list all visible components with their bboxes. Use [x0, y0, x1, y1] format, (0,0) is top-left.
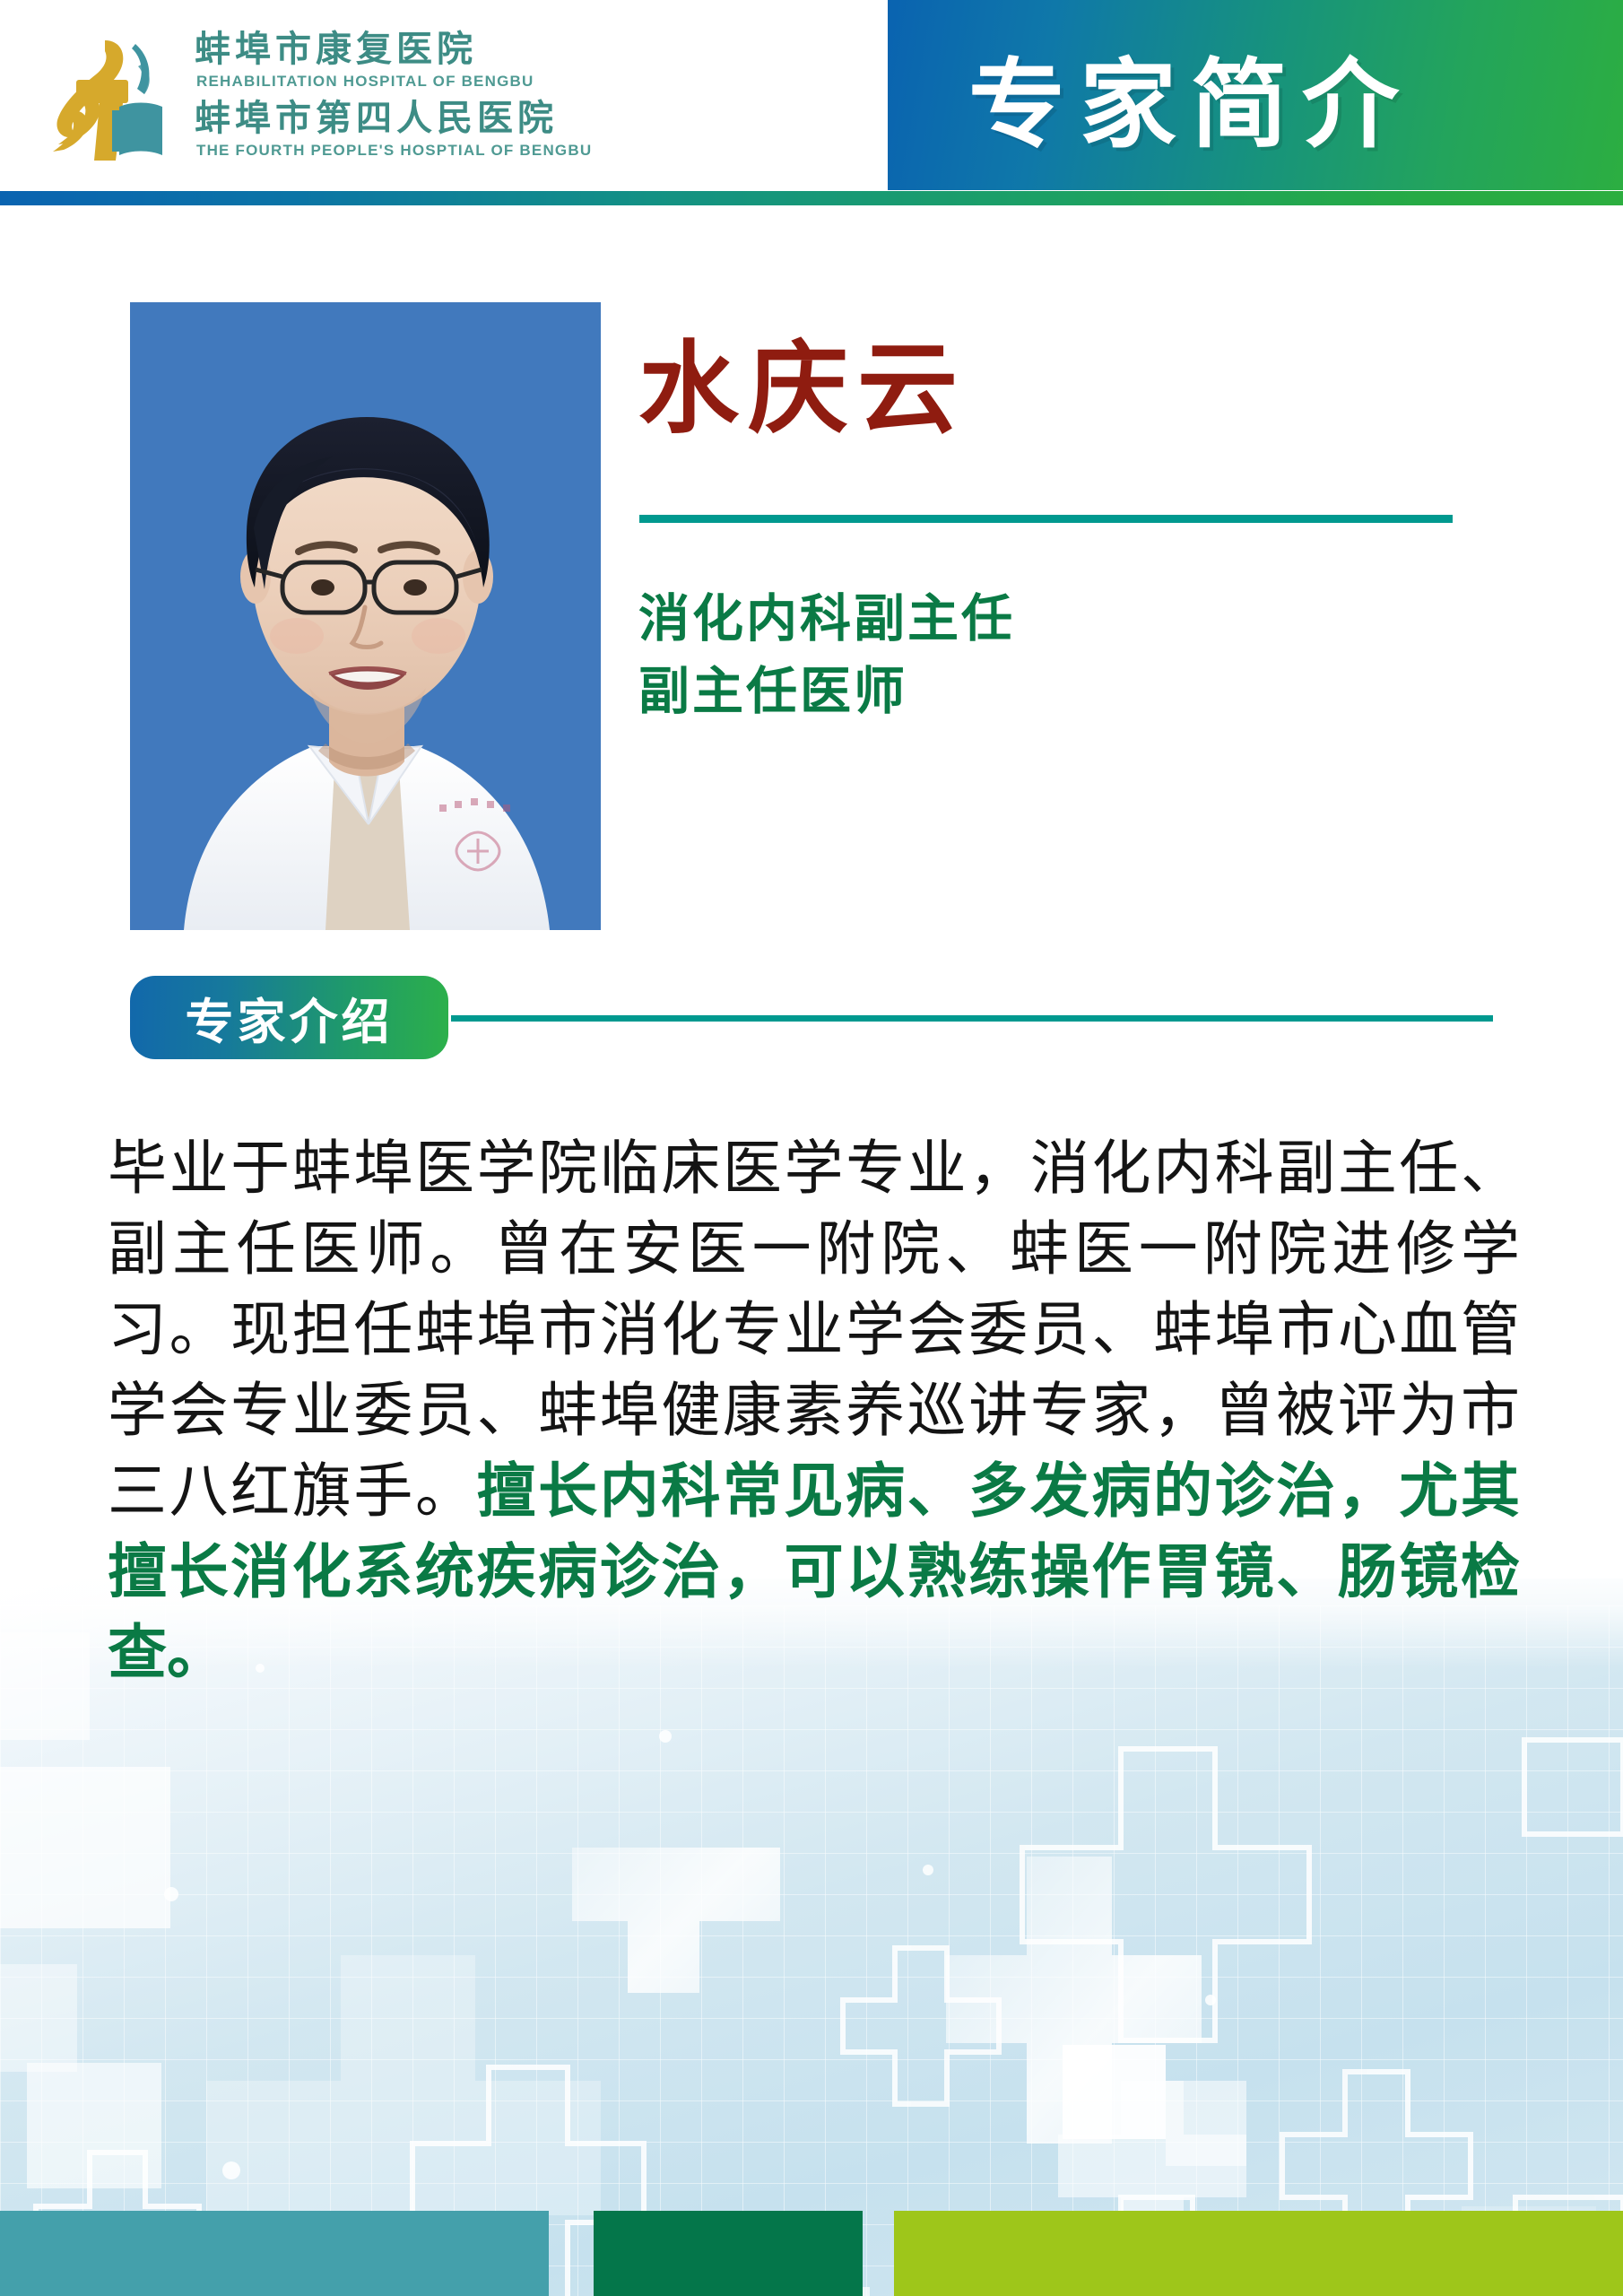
hospital-logo-text: 蚌埠市康复医院 REHABILITATION HOSPITAL OF BENGB… — [195, 30, 592, 161]
hospital-name-en-1: REHABILITATION HOSPITAL OF BENGBU — [196, 72, 592, 92]
header-accent-bar — [0, 191, 1623, 205]
section-divider — [451, 1015, 1493, 1022]
expert-profile-poster: 蚌埠市康复医院 REHABILITATION HOSPITAL OF BENGB… — [0, 0, 1623, 2296]
footer-bars — [0, 2211, 1623, 2296]
hospital-logo-icon — [49, 24, 175, 168]
footer-bar-teal — [0, 2211, 549, 2296]
name-divider — [639, 515, 1453, 523]
section-badge-label: 专家介绍 — [186, 982, 394, 1053]
doctor-name: 水庆云 — [638, 339, 967, 439]
intro-body-text: 毕业于蚌埠医学院临床医学专业，消化内科副主任、副主任医师。曾在安医一附院、蚌医一… — [108, 1128, 1520, 1693]
doctor-title-2: 副主任医师 — [638, 656, 1015, 728]
doctor-photo — [130, 302, 601, 930]
hospital-logo: 蚌埠市康复医院 REHABILITATION HOSPITAL OF BENGB… — [49, 20, 856, 172]
doctor-titles: 消化内科副主任 副主任医师 — [638, 583, 1015, 728]
section-badge: 专家介绍 — [130, 976, 448, 1059]
footer-bar-green — [594, 2211, 863, 2296]
intro-section-heading: 专家介绍 — [130, 976, 1502, 1062]
page-title: 专家简介 — [968, 25, 1596, 169]
hospital-name-en-2: THE FOURTH PEOPLE'S HOSPTIAL OF BENGBU — [196, 141, 592, 161]
hospital-name-cn-2: 蚌埠市第四人民医院 — [195, 100, 592, 137]
doctor-title-1: 消化内科副主任 — [638, 583, 1015, 656]
footer-bar-lime — [894, 2211, 1623, 2296]
page-header: 蚌埠市康复医院 REHABILITATION HOSPITAL OF BENGB… — [0, 0, 1623, 190]
hospital-name-cn-1: 蚌埠市康复医院 — [195, 30, 592, 68]
